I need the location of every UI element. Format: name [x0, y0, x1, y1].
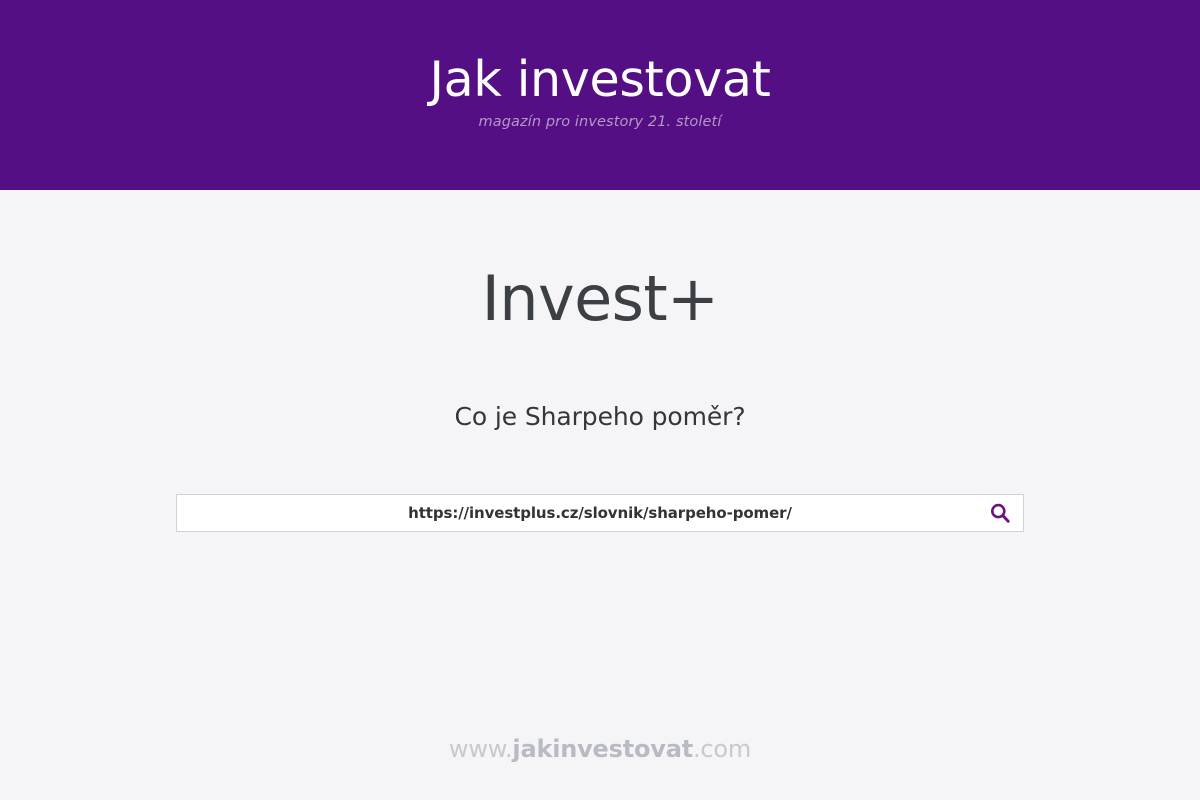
footer-tld: .com: [693, 735, 751, 763]
site-title: Jak investovat: [429, 54, 770, 106]
footer-prefix: www.: [449, 735, 513, 763]
search-icon: [989, 502, 1011, 524]
footer-domain: jakinvestovat: [512, 735, 693, 763]
site-tagline: magazín pro investory 21. století: [479, 114, 722, 130]
brand-name: Invest+: [0, 268, 1200, 330]
page-question: Co je Sharpeho poměr?: [0, 402, 1200, 432]
search-bar[interactable]: https://investplus.cz/slovnik/sharpeho-p…: [176, 494, 1024, 532]
footer-watermark: www.jakinvestovat.com: [0, 735, 1200, 764]
site-header: Jak investovat magazín pro investory 21.…: [0, 0, 1200, 190]
main-content: Invest+ Co je Sharpeho poměr? https://in…: [0, 190, 1200, 800]
search-input[interactable]: https://investplus.cz/slovnik/sharpeho-p…: [177, 504, 977, 522]
search-button[interactable]: [977, 495, 1023, 531]
page-root: Jak investovat magazín pro investory 21.…: [0, 0, 1200, 800]
